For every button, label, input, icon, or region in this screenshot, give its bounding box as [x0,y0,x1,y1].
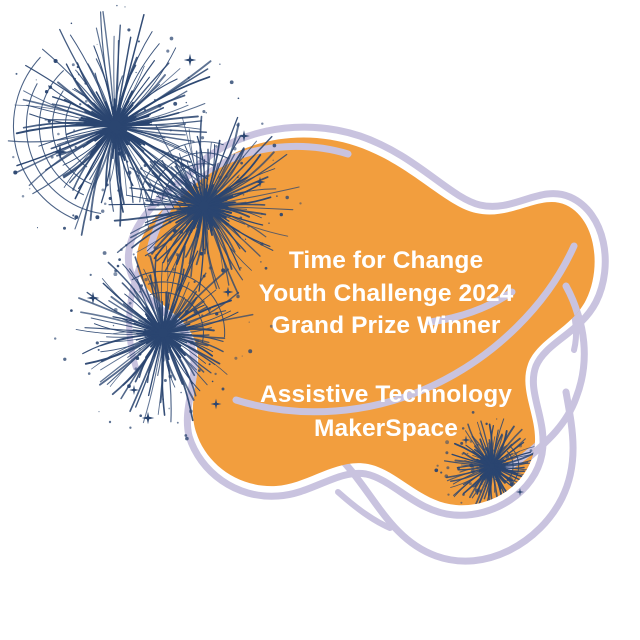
decorative-artboard [0,0,640,640]
award-graphic-canvas: Time for Change Youth Challenge 2024 Gra… [0,0,640,640]
